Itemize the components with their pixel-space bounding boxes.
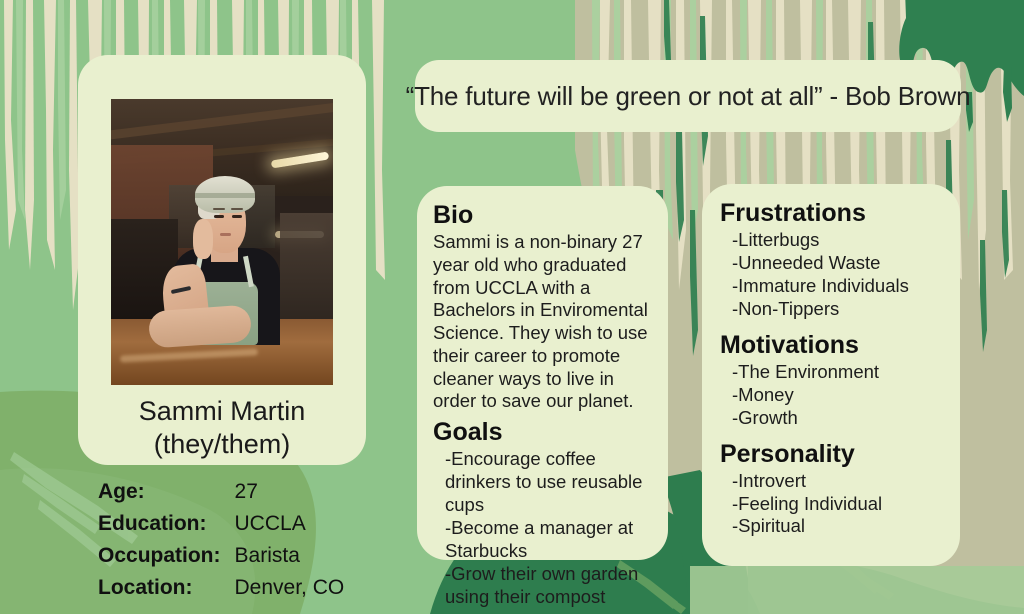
list-item: -Feeling Individual bbox=[720, 493, 942, 516]
demographics-label: Location: bbox=[98, 574, 235, 606]
bio-goals-card: Bio Sammi is a non-binary 27 year old wh… bbox=[417, 186, 668, 560]
list-item: -The Environment bbox=[720, 361, 942, 384]
traits-card: Frustrations -Litterbugs-Unneeded Waste-… bbox=[702, 184, 960, 566]
goals-heading: Goals bbox=[433, 417, 652, 447]
personality-list: -Introvert-Feeling Individual-Spiritual bbox=[720, 470, 942, 539]
motivations-heading: Motivations bbox=[720, 330, 942, 360]
demographics-label: Age: bbox=[98, 478, 235, 510]
quote-text: “The future will be green or not at all”… bbox=[406, 81, 971, 112]
bio-text: Sammi is a non-binary 27 year old who gr… bbox=[433, 231, 652, 413]
list-item: -Non-Tippers bbox=[720, 298, 942, 321]
persona-pronouns: (they/them) bbox=[78, 428, 366, 461]
goals-list: -Encourage coffee drinkers to use reusab… bbox=[433, 448, 652, 609]
demographics-row: Age:27 bbox=[98, 478, 344, 510]
frustrations-list: -Litterbugs-Unneeded Waste-Immature Indi… bbox=[720, 229, 942, 321]
list-item: -Encourage coffee drinkers to use reusab… bbox=[433, 448, 652, 517]
demographics-row: Occupation:Barista bbox=[98, 542, 344, 574]
persona-poster: “The future will be green or not at all”… bbox=[0, 0, 1024, 614]
list-item: -Become a manager at Starbucks bbox=[433, 517, 652, 563]
demographics-value: Denver, CO bbox=[235, 574, 345, 606]
list-item: -Grow their own garden using their compo… bbox=[433, 563, 652, 609]
persona-name-block: Sammi Martin (they/them) bbox=[78, 395, 366, 461]
list-item: -Spiritual bbox=[720, 515, 942, 538]
list-item: -Unneeded Waste bbox=[720, 252, 942, 275]
frustrations-heading: Frustrations bbox=[720, 198, 942, 228]
quote-card: “The future will be green or not at all”… bbox=[415, 60, 961, 132]
bio-heading: Bio bbox=[433, 200, 652, 230]
list-item: -Money bbox=[720, 384, 942, 407]
demographics-label: Education: bbox=[98, 510, 235, 542]
demographics-value: Barista bbox=[235, 542, 345, 574]
list-item: -Litterbugs bbox=[720, 229, 942, 252]
list-item: -Growth bbox=[720, 407, 942, 430]
list-item: -Immature Individuals bbox=[720, 275, 942, 298]
barista-portrait-photo bbox=[111, 99, 333, 385]
motivations-list: -The Environment-Money-Growth bbox=[720, 361, 942, 430]
persona-name: Sammi Martin bbox=[78, 395, 366, 428]
demographics-value: 27 bbox=[235, 478, 345, 510]
demographics-value: UCCLA bbox=[235, 510, 345, 542]
demographics-label: Occupation: bbox=[98, 542, 235, 574]
list-item: -Introvert bbox=[720, 470, 942, 493]
demographics-table: Age:27Education:UCCLAOccupation:BaristaL… bbox=[98, 478, 344, 606]
personality-heading: Personality bbox=[720, 439, 942, 469]
demographics-row: Location:Denver, CO bbox=[98, 574, 344, 606]
profile-card: Sammi Martin (they/them) bbox=[78, 55, 366, 465]
demographics-row: Education:UCCLA bbox=[98, 510, 344, 542]
